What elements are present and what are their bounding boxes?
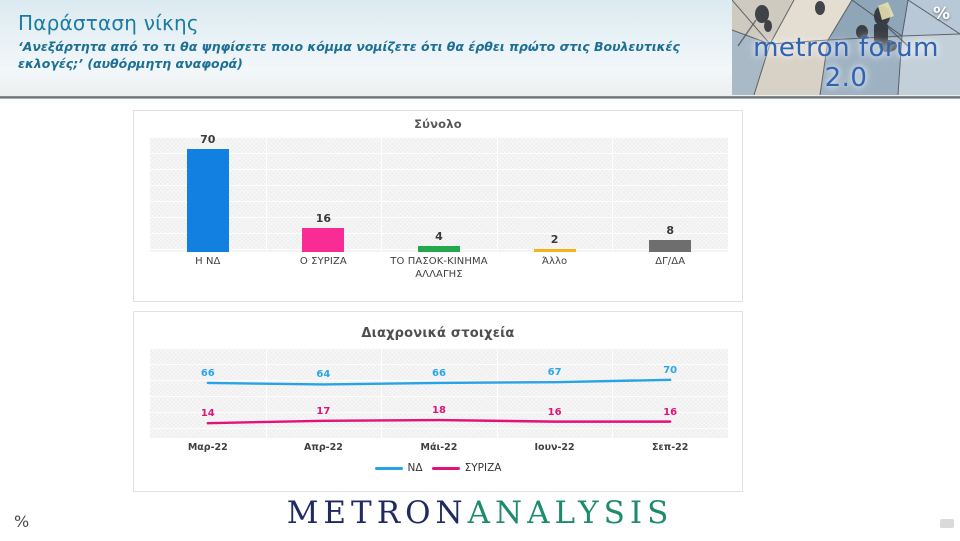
trend-date-label: Σεπ-22 <box>612 442 728 453</box>
legend-swatch <box>432 467 460 470</box>
bar-value-label: 2 <box>551 233 559 246</box>
trend-point-label: 66 <box>432 368 446 379</box>
legend-label: ΣΥΡΙΖΑ <box>465 462 502 474</box>
trend-point-label: 16 <box>548 407 562 418</box>
header-text-block: Παράσταση νίκης ‘Ανεξάρτητα από το τι θα… <box>18 10 708 72</box>
corner-marker <box>940 519 954 528</box>
bar-category-label: ΤΟ ΠΑΣΟΚ-ΚΙΝΗΜΑ ΑΛΛΑΓΗΣ <box>381 255 497 281</box>
bar-column: 4 <box>381 137 497 252</box>
bar-category-label: Άλλο <box>497 255 613 281</box>
trend-date-label: Ιουν-22 <box>497 442 613 453</box>
logo-metron-text: METRON <box>287 495 468 531</box>
trend-point-label: 67 <box>548 367 562 378</box>
metron-forum-banner: % metron forum 2.0 <box>732 0 960 95</box>
line-chart-plot-area: 66646667701417181616 <box>150 348 728 438</box>
total-chart-panel: Σύνολο 7016428 Η ΝΔΟ ΣΥΡΙΖΑΤΟ ΠΑΣΟΚ-ΚΙΝΗ… <box>133 110 743 302</box>
metron-forum-wordmark: metron forum 2.0 <box>732 33 960 93</box>
legend-item[interactable]: ΝΔ <box>375 462 423 474</box>
slide-header: Παράσταση νίκης ‘Ανεξάρτητα από το τι θα… <box>0 0 960 97</box>
bar-column: 2 <box>497 137 613 252</box>
logo-analysis-text: ANALYSIS <box>468 495 674 531</box>
trend-date-label: Μαρ-22 <box>150 442 266 453</box>
trend-legend: ΝΔΣΥΡΙΖΑ <box>134 462 742 474</box>
bar-series: 7016428 <box>150 137 728 252</box>
trend-point-label: 70 <box>663 365 677 376</box>
bar-chart-plot-area: 7016428 <box>150 137 728 252</box>
bar-value-label: 16 <box>316 212 331 225</box>
trend-line <box>208 420 670 423</box>
trend-date-axis: Μαρ-22Απρ-22Μάι-22Ιουν-22Σεπ-22 <box>150 442 728 453</box>
trend-point-label: 17 <box>316 406 330 417</box>
header-divider <box>0 96 960 99</box>
bar <box>649 240 691 252</box>
bar-category-label: ΔΓ/ΔΑ <box>612 255 728 281</box>
bar-column: 70 <box>150 137 266 252</box>
bar-category-label: Ο ΣΥΡΙΖΑ <box>266 255 382 281</box>
page-title: Παράσταση νίκης <box>18 10 708 36</box>
trend-line <box>208 380 670 385</box>
bar-column: 8 <box>612 137 728 252</box>
bar-value-label: 4 <box>435 230 443 243</box>
bar <box>302 228 344 252</box>
legend-label: ΝΔ <box>408 462 423 474</box>
trend-chart-title: Διαχρονικά στοιχεία <box>134 326 742 341</box>
bar-category-axis: Η ΝΔΟ ΣΥΡΙΖΑΤΟ ΠΑΣΟΚ-ΚΙΝΗΜΑ ΑΛΛΑΓΗΣΆλλοΔ… <box>150 255 728 281</box>
trend-point-label: 16 <box>663 407 677 418</box>
bar <box>187 149 229 252</box>
trend-chart-panel: Διαχρονικά στοιχεία 66646667701417181616… <box>133 311 743 492</box>
bar-category-label: Η ΝΔ <box>150 255 266 281</box>
trend-lines <box>150 348 728 438</box>
trend-point-label: 14 <box>201 408 215 419</box>
metron-analysis-logo: METRONANALYSIS <box>0 495 960 531</box>
bar-value-label: 70 <box>200 133 215 146</box>
total-chart-title: Σύνολο <box>134 117 742 131</box>
trend-date-label: Μάι-22 <box>381 442 497 453</box>
page-subtitle: ‘Ανεξάρτητα από το τι θα ψηφίσετε ποιο κ… <box>18 38 708 72</box>
legend-item[interactable]: ΣΥΡΙΖΑ <box>432 462 502 474</box>
bar <box>534 249 576 252</box>
legend-swatch <box>375 467 403 470</box>
trend-point-label: 64 <box>316 369 330 380</box>
trend-point-label: 66 <box>201 368 215 379</box>
header-percent-symbol: % <box>933 4 950 24</box>
bar <box>418 246 460 252</box>
bar-column: 16 <box>266 137 382 252</box>
slide-root: Παράσταση νίκης ‘Ανεξάρτητα από το τι θα… <box>0 0 960 541</box>
trend-point-label: 18 <box>432 405 446 416</box>
trend-date-label: Απρ-22 <box>266 442 382 453</box>
bar-value-label: 8 <box>666 224 674 237</box>
